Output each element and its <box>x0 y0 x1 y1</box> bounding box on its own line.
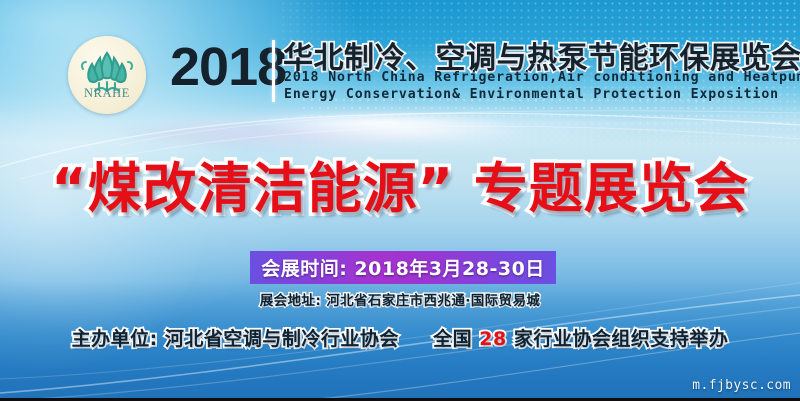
organizer-support-suffix: 家行业协会组织支持举办 <box>514 328 729 350</box>
organizer-primary: 主办单位: 河北省空调与制冷行业协会 <box>72 328 399 350</box>
lotus-icon <box>68 36 146 114</box>
watermark: m.fjbysc.com <box>692 378 791 393</box>
date-bar: 会展时间: 2018年3月28-30日 <box>250 251 556 284</box>
header-divider <box>272 40 275 102</box>
organizer-support-prefix: 全国 <box>433 328 472 350</box>
event-subtitle-english-line1: 2018 North China Refrigeration,Air condi… <box>284 70 800 85</box>
organizer-line: 主办单位: 河北省空调与制冷行业协会 全国 28 家行业协会组织支持举办 <box>0 324 800 351</box>
event-subtitle-english-line2: Energy Conservation& Environmental Prote… <box>284 87 779 102</box>
logo-text: NRAHE <box>68 86 146 101</box>
light-swoosh-core-decoration <box>250 112 510 134</box>
main-headline: “煤改清洁能源” 专题展览会 <box>0 144 800 223</box>
date-text: 会展时间: 2018年3月28-30日 <box>261 254 545 281</box>
exhibition-banner: NRAHE 2018 华北制冷、空调与热泵节能环保展览会 2018 North … <box>0 0 800 401</box>
organizer-count: 28 <box>479 328 506 350</box>
nrahe-logo: NRAHE <box>68 36 146 114</box>
venue-address: 展会地址: 河北省石家庄市西兆通·国际贸易城 <box>0 289 800 309</box>
year-label: 2018 <box>170 36 286 98</box>
